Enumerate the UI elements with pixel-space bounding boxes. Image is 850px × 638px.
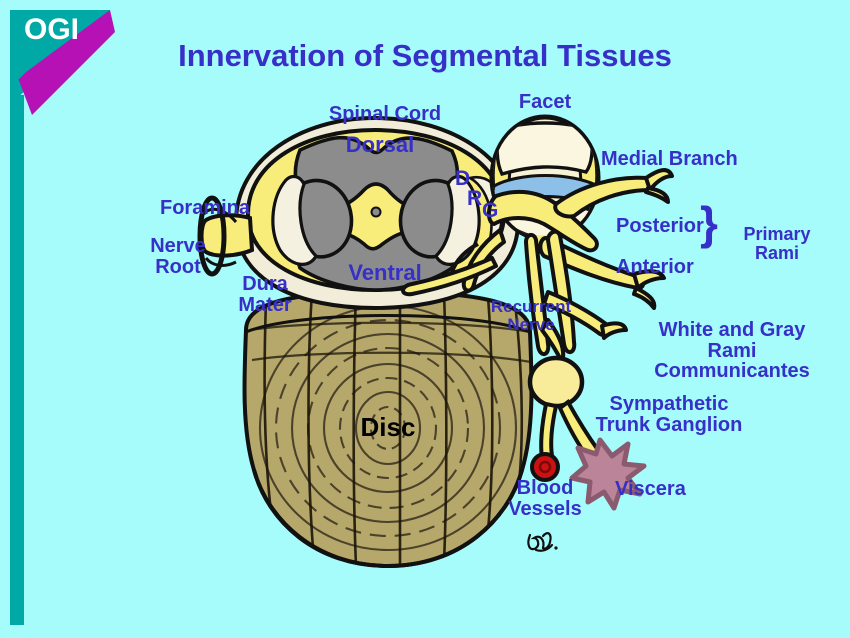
label-dura-mater: Dura Mater	[222, 274, 308, 315]
label-ventral: Ventral	[330, 262, 440, 285]
label-recurrent-nerve: Recurrent Nerve	[481, 298, 581, 333]
label-viscera: Viscera	[615, 479, 686, 500]
label-disc: Disc	[333, 414, 443, 441]
label-nerve-root: Nerve Root	[132, 236, 224, 277]
label-dorsal: Dorsal	[320, 134, 440, 157]
label-sympathetic-trunk: Sympathetic Trunk Ganglion	[586, 394, 752, 435]
label-drg-g: G	[482, 200, 498, 222]
label-drg-r: R	[467, 188, 482, 210]
label-medial-branch: Medial Branch	[601, 149, 738, 170]
label-posterior: Posterior	[616, 216, 704, 237]
slide-canvas: OGI Innervation of Segmental Tissues	[0, 0, 850, 638]
label-anterior: Anterior	[616, 257, 694, 278]
label-white-gray-rami: White and Gray Rami Communicantes	[634, 320, 830, 382]
label-foramina: Foramina	[160, 198, 250, 219]
label-facet: Facet	[490, 92, 600, 113]
label-primary-rami: Primary Rami	[722, 225, 832, 262]
label-blood-vessels: Blood Vessels	[500, 478, 590, 519]
label-spinal-cord: Spinal Cord	[320, 104, 450, 125]
artist-signature	[528, 533, 557, 551]
label-rami-brace: }	[700, 202, 718, 246]
